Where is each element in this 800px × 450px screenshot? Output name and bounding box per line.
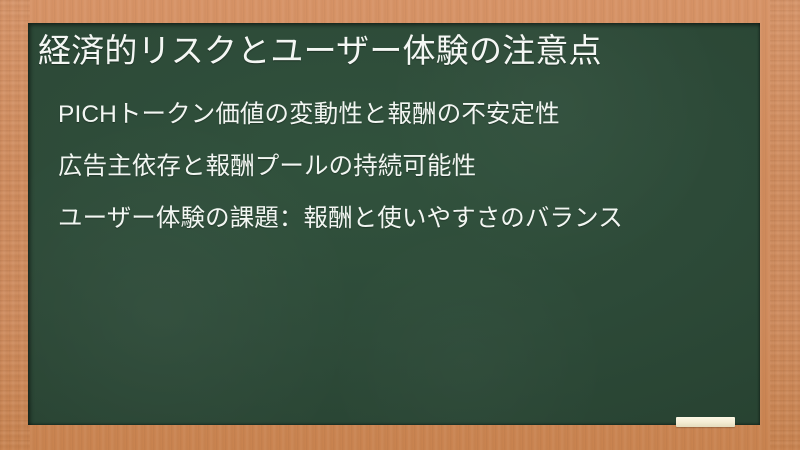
chalkboard-slide: 経済的リスクとユーザー体験の注意点 PICHトークン価値の変動性と報酬の不安定性… xyxy=(0,0,800,450)
bullet-item-1: PICHトークン価値の変動性と報酬の不安定性 xyxy=(58,95,724,134)
bullet-item-3: ユーザー体験の課題：報酬と使いやすさのバランス xyxy=(58,199,724,238)
slide-content: 経済的リスクとユーザー体験の注意点 PICHトークン価値の変動性と報酬の不安定性… xyxy=(28,23,760,425)
slide-title: 経済的リスクとユーザー体験の注意点 xyxy=(34,29,738,73)
wooden-frame-left xyxy=(0,0,30,450)
bullet-list: PICHトークン価値の変動性と報酬の不安定性 広告主依存と報酬プールの持続可能性… xyxy=(34,95,738,238)
bullet-item-2: 広告主依存と報酬プールの持続可能性 xyxy=(58,147,724,186)
chalkboard-surface: 経済的リスクとユーザー体験の注意点 PICHトークン価値の変動性と報酬の不安定性… xyxy=(28,23,760,425)
chalk-stick-icon xyxy=(676,417,735,427)
wooden-frame-right xyxy=(770,0,800,450)
